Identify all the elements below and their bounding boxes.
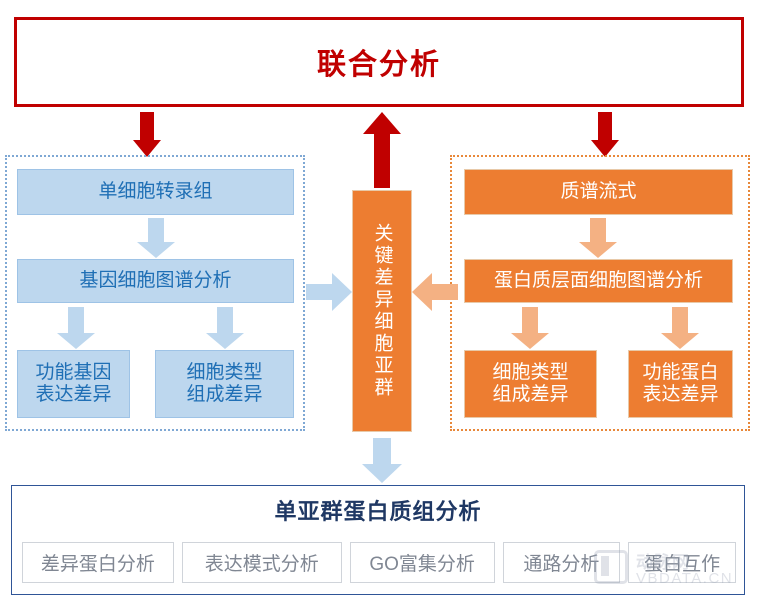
chip-differential-protein-analysis[interactable]: 差异蛋白分析 bbox=[22, 542, 174, 583]
arrow-shaft bbox=[148, 218, 164, 242]
arrow-shaft bbox=[432, 284, 458, 300]
chip-pathway-analysis[interactable]: 通路分析 bbox=[503, 542, 621, 583]
arrow-center-to-top bbox=[362, 112, 402, 188]
chip-label: 差异蛋白分析 bbox=[41, 549, 155, 576]
arrow-protein-atlas-to-cell-type bbox=[510, 307, 550, 349]
arrow-head bbox=[362, 464, 402, 483]
arrow-shaft bbox=[373, 438, 391, 464]
node-functional-protein-expression-difference[interactable]: 功能蛋白表达差异 bbox=[628, 350, 733, 418]
arrow-shaft bbox=[306, 284, 332, 300]
node-label: 功能基因表达差异 bbox=[35, 362, 111, 407]
node-functional-gene-expression-difference[interactable]: 功能基因表达差异 bbox=[17, 350, 130, 418]
arrow-shaft bbox=[672, 307, 688, 333]
chip-expression-pattern-analysis[interactable]: 表达模式分析 bbox=[182, 542, 342, 583]
analysis-chip-row: 差异蛋白分析 表达模式分析 GO富集分析 通路分析 蛋白互作 bbox=[22, 541, 736, 583]
chip-protein-interaction[interactable]: 蛋白互作 bbox=[628, 542, 736, 583]
node-key-differential-cell-subpopulation[interactable]: 关键差异细胞亚群 bbox=[352, 190, 412, 432]
arrow-center-to-bottom bbox=[362, 438, 402, 483]
arrow-head bbox=[363, 112, 401, 134]
arrow-top-to-right-panel bbox=[585, 112, 625, 157]
node-label: 蛋白质层面细胞图谱分析 bbox=[494, 270, 703, 292]
node-single-cell-transcriptome[interactable]: 单细胞转录组 bbox=[17, 169, 294, 215]
joint-analysis-box: 联合分析 bbox=[14, 17, 744, 107]
node-label: 细胞类型组成差异 bbox=[492, 362, 568, 407]
node-cell-type-composition-difference-left[interactable]: 细胞类型组成差异 bbox=[155, 350, 294, 418]
node-label: 细胞类型组成差异 bbox=[186, 362, 262, 407]
arrow-shaft bbox=[522, 307, 538, 333]
arrow-head bbox=[579, 242, 617, 258]
arrow-atlas-to-gene-expression bbox=[56, 307, 96, 349]
arrow-right-panel-to-center bbox=[412, 273, 458, 311]
arrow-transcriptome-to-atlas bbox=[136, 218, 176, 258]
chip-label: GO富集分析 bbox=[369, 549, 475, 576]
arrow-top-to-left-panel bbox=[127, 112, 167, 157]
arrow-shaft bbox=[217, 307, 233, 333]
subpopulation-proteomics-box: 单亚群蛋白质组分析 差异蛋白分析 表达模式分析 GO富集分析 通路分析 蛋白互作 bbox=[11, 485, 745, 595]
arrow-left-panel-to-center bbox=[306, 273, 352, 311]
node-protein-level-cell-atlas-analysis[interactable]: 蛋白质层面细胞图谱分析 bbox=[464, 259, 733, 303]
node-mass-cytometry[interactable]: 质谱流式 bbox=[464, 169, 733, 215]
arrow-shaft bbox=[598, 112, 612, 140]
arrow-shaft bbox=[590, 218, 606, 242]
diagram-canvas: 联合分析 单细胞转录组 基因细胞图谱分析 功能基因表达差异 细胞类型组成差异 bbox=[0, 0, 758, 610]
node-label: 基因细胞图谱分析 bbox=[79, 270, 231, 292]
arrow-mass-cytometry-to-protein-atlas bbox=[578, 218, 618, 258]
arrow-head bbox=[332, 273, 352, 311]
arrow-head bbox=[661, 333, 699, 349]
subpopulation-proteomics-title: 单亚群蛋白质组分析 bbox=[12, 494, 744, 526]
arrow-head bbox=[412, 273, 432, 311]
chip-label: 通路分析 bbox=[523, 549, 599, 576]
chip-label: 表达模式分析 bbox=[205, 549, 319, 576]
chip-label: 蛋白互作 bbox=[644, 549, 720, 576]
chip-go-enrichment-analysis[interactable]: GO富集分析 bbox=[350, 542, 495, 583]
arrow-shaft bbox=[374, 134, 390, 188]
node-label: 单细胞转录组 bbox=[98, 181, 212, 203]
node-cell-type-composition-difference-right[interactable]: 细胞类型组成差异 bbox=[464, 350, 597, 418]
node-label: 质谱流式 bbox=[560, 181, 636, 203]
arrow-head bbox=[511, 333, 549, 349]
arrow-atlas-to-cell-type bbox=[205, 307, 245, 349]
node-gene-cell-atlas-analysis[interactable]: 基因细胞图谱分析 bbox=[17, 259, 294, 303]
node-label: 关键差异细胞亚群 bbox=[373, 223, 392, 399]
node-label: 功能蛋白表达差异 bbox=[642, 362, 718, 407]
arrow-head bbox=[57, 333, 95, 349]
arrow-shaft bbox=[68, 307, 84, 333]
arrow-shaft bbox=[140, 112, 154, 140]
arrow-head bbox=[206, 333, 244, 349]
arrow-protein-atlas-to-protein-expression bbox=[660, 307, 700, 349]
arrow-head bbox=[137, 242, 175, 258]
joint-analysis-title: 联合分析 bbox=[317, 41, 441, 83]
